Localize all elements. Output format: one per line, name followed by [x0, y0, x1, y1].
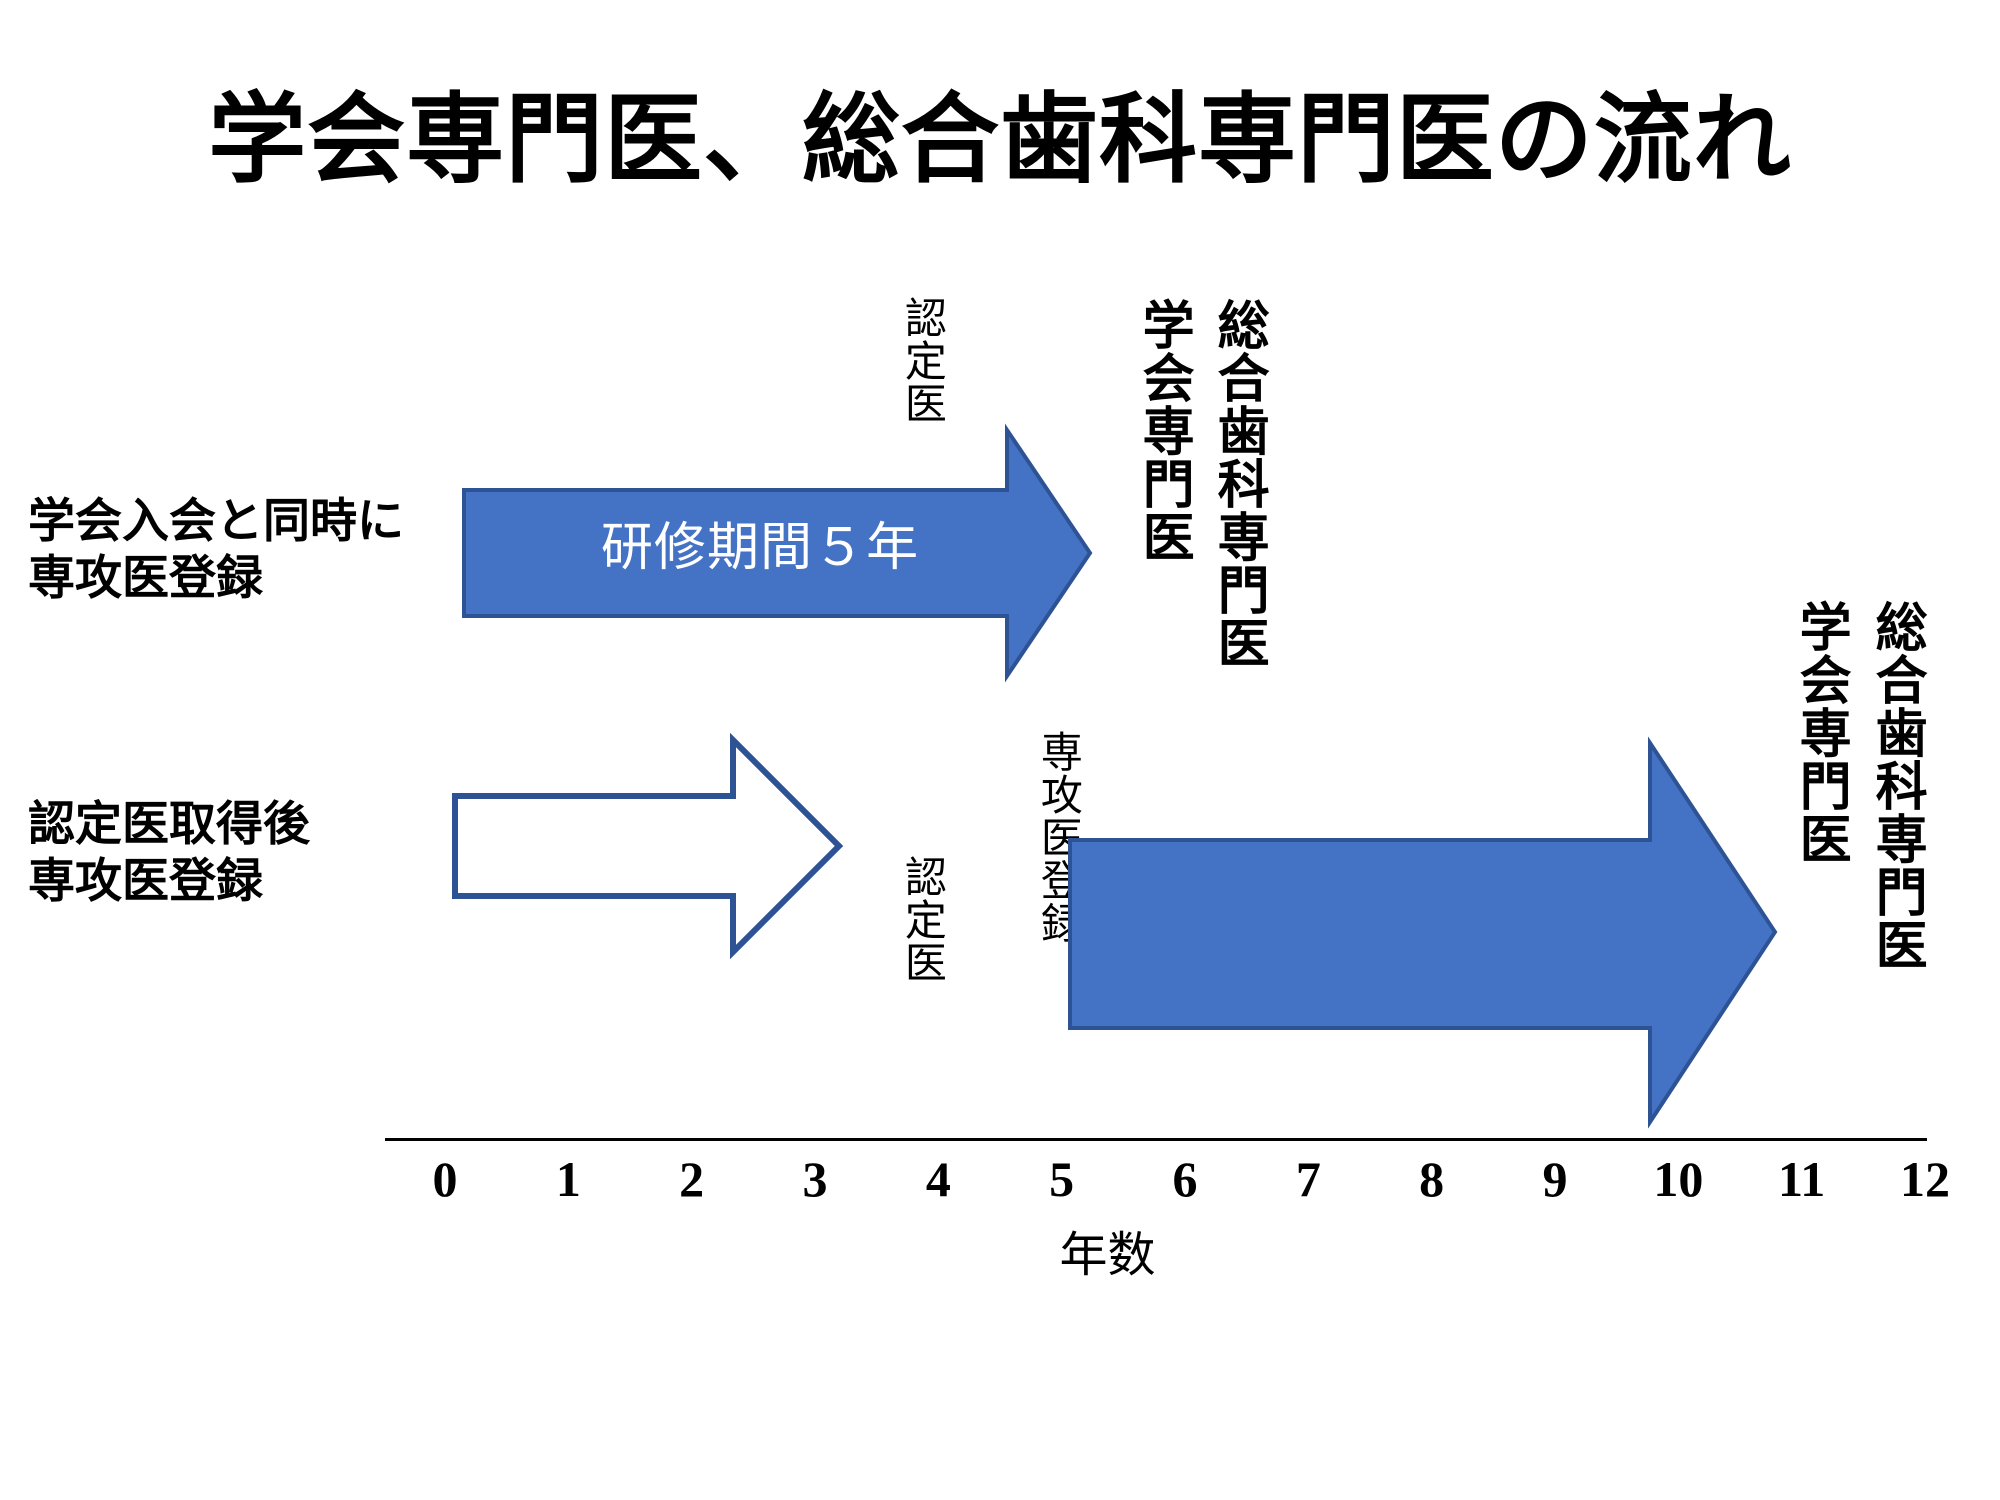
axis-tick-9: 9 [1495, 1150, 1615, 1208]
axis-tick-4: 4 [878, 1150, 998, 1208]
label-society-entry-line2: 専攻医登録 [28, 549, 404, 606]
axis-tick-10: 10 [1618, 1150, 1738, 1208]
time-axis-line [385, 1138, 1927, 1141]
axis-tick-6: 6 [1125, 1150, 1245, 1208]
callout-certified-at-year-3: 認定医 [900, 855, 945, 984]
time-axis-ticks: 0123456789101112 [385, 1150, 1927, 1210]
arrow-training-period-label: 研修期間５年 [530, 505, 990, 580]
label-after-certification: 認定医取得後 専攻医登録 [28, 795, 310, 910]
label-society-entry-line1: 学会入会と同時に [28, 492, 404, 549]
axis-tick-11: 11 [1742, 1150, 1862, 1208]
callout-certified-at-year-5: 認定医 [900, 296, 945, 425]
arrow-shape [455, 740, 839, 952]
label-after-certification-line1: 認定医取得後 [28, 795, 310, 852]
callout-general-dentistry-specialist-bottom: 総合歯科専門医 [1868, 600, 1924, 971]
axis-tick-0: 0 [385, 1150, 505, 1208]
arrow-shape [1070, 743, 1775, 1122]
label-after-certification-line2: 専攻医登録 [28, 852, 310, 909]
axis-tick-1: 1 [508, 1150, 628, 1208]
callout-general-dentistry-specialist-top: 総合歯科専門医 [1210, 298, 1266, 669]
arrow-specialist-track-shape [1068, 740, 1778, 1130]
axis-tick-5: 5 [1002, 1150, 1122, 1208]
callout-society-specialist-bottom: 学会専門医 [1792, 600, 1848, 865]
axis-title: 年数 [0, 1215, 2000, 1285]
arrow-specialist-track [1068, 740, 1778, 1130]
page-title: 学会専門医、総合歯科専門医の流れ [0, 88, 2000, 191]
callout-society-specialist-top: 学会専門医 [1135, 298, 1191, 563]
axis-tick-7: 7 [1248, 1150, 1368, 1208]
arrow-pre-certification-shape [452, 736, 842, 956]
label-society-entry: 学会入会と同時に 専攻医登録 [28, 492, 404, 607]
axis-tick-2: 2 [632, 1150, 752, 1208]
axis-tick-3: 3 [755, 1150, 875, 1208]
presentation-slide: 学会専門医、総合歯科専門医の流れ 学会入会と同時に 専攻医登録 研修期間５年 認… [0, 0, 2000, 1500]
axis-tick-8: 8 [1372, 1150, 1492, 1208]
arrow-pre-certification [452, 736, 842, 956]
axis-tick-12: 12 [1865, 1150, 1985, 1208]
